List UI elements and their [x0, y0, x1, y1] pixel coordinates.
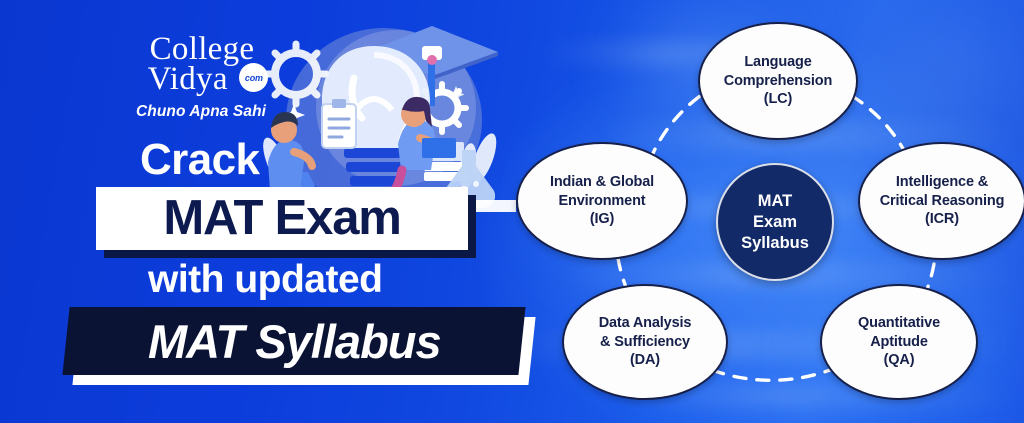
node-icr-line3: (ICR)	[925, 211, 959, 227]
node-qa-line2: Aptitude	[870, 334, 928, 350]
center-line3: Syllabus	[741, 234, 809, 252]
center-line2: Exam	[753, 213, 797, 231]
node-lc-line1: Language	[744, 54, 811, 70]
promo-banner: College Vidya com Chuno Apna Sahi	[0, 0, 1024, 423]
node-lc-line2: Comprehension	[724, 73, 832, 89]
node-da-line2: & Sufficiency	[600, 334, 690, 350]
headline-line-crack: Crack	[140, 136, 540, 184]
syllabus-node-lc[interactable]: Language Comprehension (LC)	[698, 22, 858, 140]
headline-line-syllabus: MAT Syllabus	[148, 318, 441, 365]
connector-ig-lc	[650, 96, 700, 160]
brand-logo[interactable]: College Vidya com Chuno Apna Sahi	[86, 34, 316, 121]
mat-syllabus-diagram: Language Comprehension (LC) Intelligence…	[500, 0, 1024, 423]
syllabus-node-da[interactable]: Data Analysis & Sufficiency (DA)	[562, 284, 728, 400]
node-da-line3: (DA)	[630, 352, 660, 368]
headline-line-exam: MAT Exam	[163, 194, 400, 243]
center-line1: MAT	[758, 192, 793, 210]
brand-tagline: Chuno Apna Sahi	[86, 103, 316, 121]
headline-line-updated: with updated	[148, 259, 540, 301]
brand-name-line1: College	[148, 34, 255, 64]
headline-exam-box-fill: MAT Exam	[96, 187, 468, 250]
syllabus-node-qa[interactable]: Quantitative Aptitude (QA)	[820, 284, 978, 400]
node-qa-line1: Quantitative	[858, 315, 940, 331]
node-ig-line3: (IG)	[590, 211, 614, 227]
syllabus-center-node[interactable]: MAT Exam Syllabus	[716, 163, 834, 281]
node-da-line1: Data Analysis	[599, 315, 692, 331]
node-lc-line3: (LC)	[764, 91, 792, 107]
syllabus-node-icr[interactable]: Intelligence & Critical Reasoning (ICR)	[858, 142, 1024, 260]
node-icr-line1: Intelligence &	[896, 174, 988, 190]
node-ig-line2: Environment	[559, 193, 646, 209]
node-icr-line2: Critical Reasoning	[880, 193, 1005, 209]
node-qa-line3: (QA)	[884, 352, 915, 368]
headline-group: Crack MAT Exam with updated MAT Syllabus	[0, 136, 540, 385]
dotcom-badge-icon: com	[239, 63, 268, 92]
syllabus-node-ig[interactable]: Indian & Global Environment (IG)	[516, 142, 688, 260]
brand-wordmark: College Vidya com	[148, 34, 255, 94]
node-ig-line1: Indian & Global	[550, 174, 654, 190]
headline-syllabus-box: MAT Syllabus	[66, 307, 532, 385]
connector-da-qa	[712, 370, 830, 380]
brand-name-line2: Vidya	[148, 64, 255, 94]
headline-exam-box: MAT Exam	[96, 187, 468, 250]
headline-syllabus-box-fill: MAT Syllabus	[62, 307, 525, 375]
